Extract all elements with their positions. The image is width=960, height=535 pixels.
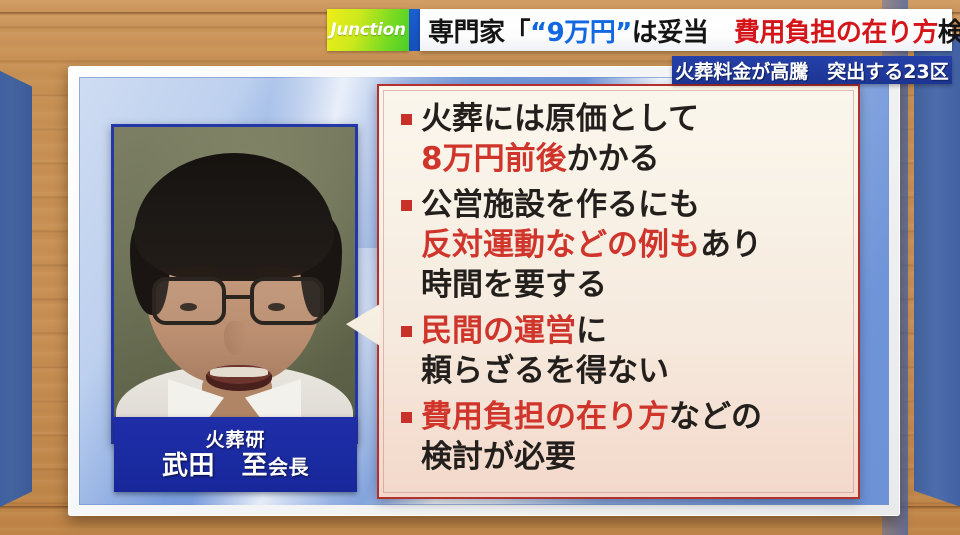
quote-bullet-line: 火葬には原価として — [421, 100, 844, 140]
quote-bullet-line: 時間を要する — [421, 266, 844, 306]
quote-bullet-line: 検討が必要 — [421, 438, 844, 478]
quote-highlight-text: 民間の運営 — [421, 313, 576, 349]
bullet-square-icon — [401, 326, 412, 337]
speaker-organization: 火葬研 — [205, 430, 265, 451]
headline-bar: 専門家「“9万円”は妥当 費用負担の在り方検討を」 — [420, 9, 952, 51]
quote-bubble: 火葬には原価として8万円前後かかる公営施設を作るにも反対運動などの例もあり時間を… — [377, 84, 860, 499]
set-panel-left — [0, 64, 32, 514]
headline-accent-bar — [409, 9, 420, 51]
speaker-portrait — [111, 124, 358, 444]
quote-bullet-line: 公営施設を作るにも — [421, 186, 844, 226]
headline-part-4-topic: 費用負担の在り方 — [734, 18, 938, 48]
glasses-lens-right — [250, 277, 324, 325]
quote-highlight-text: 8万円前後 — [421, 141, 567, 177]
quote-bullet-line: 費用負担の在り方などの — [421, 398, 844, 438]
quote-bullet-item: 民間の運営に頼らざるを得ない — [401, 312, 844, 392]
bullet-square-icon — [401, 114, 412, 125]
speaker-name-text: 武田 至 — [162, 451, 268, 481]
subheadline-bar: 火葬料金が高騰 突出する23区 — [672, 56, 952, 84]
headline-part-2-amount: “9万円” — [530, 18, 632, 48]
set-panel-right — [914, 30, 960, 510]
quote-plain-text: 検討が必要 — [421, 439, 576, 475]
quote-plain-text: などの — [669, 399, 762, 435]
broadcast-screen: 火葬研 武田 至会長 火葬には原価として8万円前後かかる公営施設を作るにも反対運… — [0, 0, 960, 535]
quote-bullet-line: 8万円前後かかる — [421, 140, 844, 180]
quote-plain-text: 公営施設を作るにも — [421, 187, 700, 223]
subheadline-text: 火葬料金が高騰 突出する23区 — [675, 57, 948, 84]
quote-bullet-lines: 火葬には原価として8万円前後かかる — [421, 100, 844, 180]
quote-plain-text: 時間を要する — [421, 267, 607, 303]
quote-bullet-lines: 費用負担の在り方などの検討が必要 — [421, 398, 844, 478]
quote-bullet-line: 反対運動などの例もあり — [421, 226, 844, 266]
quote-highlight-text: 費用負担の在り方 — [421, 399, 669, 435]
speaker-title-suffix: 会長 — [268, 455, 309, 479]
quote-bullet-lines: 民間の運営に頼らざるを得ない — [421, 312, 844, 392]
bullet-square-icon — [401, 200, 412, 211]
bullet-square-icon — [401, 412, 412, 423]
quote-bullet-line: 頼らざるを得ない — [421, 352, 844, 392]
quote-bullet-lines: 公営施設を作るにも反対運動などの例もあり時間を要する — [421, 186, 844, 306]
portrait-teeth — [210, 367, 268, 377]
quote-bullet-item: 公営施設を作るにも反対運動などの例もあり時間を要する — [401, 186, 844, 306]
program-logo: Junction — [327, 9, 409, 51]
speaker-name: 武田 至会長 — [162, 452, 309, 481]
program-logo-text: Junction — [330, 20, 405, 40]
speaker-name-plate: 火葬研 武田 至会長 — [114, 417, 357, 492]
quote-plain-text: 頼らざるを得ない — [421, 353, 669, 389]
quote-plain-text: かかる — [567, 141, 660, 177]
quote-plain-text: あり — [700, 227, 762, 263]
quote-bullet-item: 費用負担の在り方などの検討が必要 — [401, 398, 844, 478]
headline-part-5: 検討を」 — [938, 18, 960, 48]
headline-part-3: は妥当 — [632, 18, 734, 48]
quote-plain-text: に — [576, 313, 607, 349]
glasses-bridge — [226, 295, 250, 299]
portrait-nose — [224, 321, 248, 355]
quote-bullet-list: 火葬には原価として8万円前後かかる公営施設を作るにも反対運動などの例もあり時間を… — [401, 100, 844, 484]
quote-highlight-text: 反対運動などの例も — [421, 227, 700, 263]
headline-part-1: 専門家「 — [428, 18, 530, 48]
quote-bullet-item: 火葬には原価として8万円前後かかる — [401, 100, 844, 180]
quote-plain-text: 火葬には原価として — [421, 101, 699, 137]
quote-bullet-line: 民間の運営に — [421, 312, 844, 352]
headline-text: 専門家「“9万円”は妥当 費用負担の在り方検討を」 — [420, 12, 960, 49]
glasses-lens-left — [152, 277, 226, 325]
